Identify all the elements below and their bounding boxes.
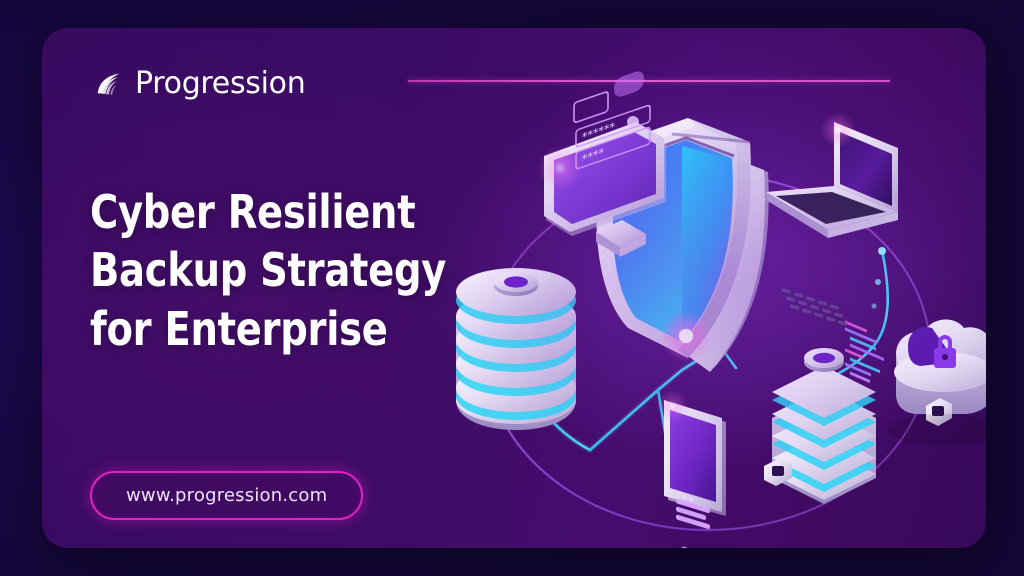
brand-name: Progression	[135, 66, 305, 101]
website-url-button[interactable]: www.progression.com	[90, 471, 363, 520]
poster-card: Progression Cyber Resilient Backup Strat…	[42, 28, 986, 548]
headline-line-2: Backup Strategy	[90, 241, 443, 299]
cloud-lock-icon	[888, 319, 986, 446]
poster-canvas: Progression Cyber Resilient Backup Strat…	[0, 0, 1024, 576]
database-stack-icon	[456, 268, 576, 430]
header-divider-line	[408, 80, 890, 82]
swirl-wave-mark-icon	[94, 69, 124, 99]
laptop-icon	[766, 112, 898, 383]
cyber-security-illustration: ****** ****	[420, 100, 986, 540]
smartphone-icon	[656, 390, 726, 548]
page-title: Cyber Resilient Backup Strategy for Ente…	[90, 183, 443, 358]
brand-logo[interactable]: Progression	[94, 66, 305, 101]
headline-line-3: for Enterprise	[90, 300, 443, 358]
headline-line-1: Cyber Resilient	[90, 183, 443, 241]
